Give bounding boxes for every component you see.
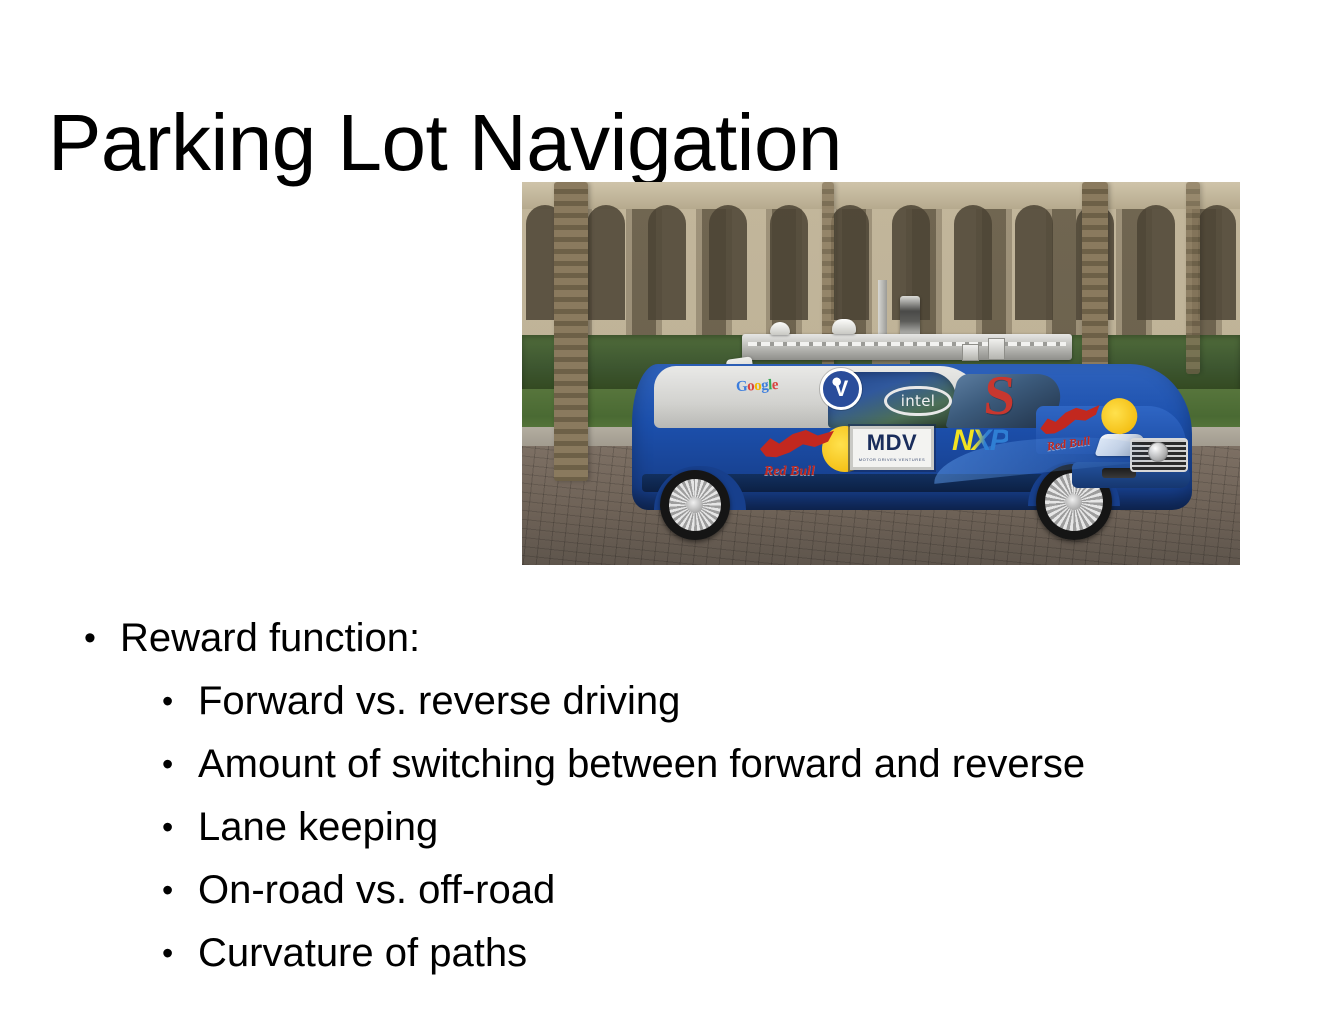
list-item: On-road vs. off-road [162, 859, 1262, 922]
vw-roundel-icon: V [820, 368, 862, 410]
list-item: Amount of switching between forward and … [162, 733, 1262, 796]
arch-icon [587, 205, 625, 320]
stanford-s-icon: S [982, 368, 1017, 424]
gps-antenna-icon [832, 319, 856, 334]
arch-icon [1015, 205, 1053, 320]
roof-sensor-rack [742, 334, 1072, 360]
arch-icon [648, 205, 686, 320]
nxp-logo-icon: NXP [952, 426, 1008, 456]
bullet-list: Reward function: Forward vs. reverse dri… [82, 606, 1262, 985]
list-item: Reward function: [82, 606, 1262, 670]
photo-stage: Google V intel S Red Bull Red Bull MDV M… [522, 182, 1240, 565]
mdv-logo-icon: MDV MOTOR DRIVEN VENTURES [850, 426, 934, 470]
autonomous-vehicle: Google V intel S Red Bull Red Bull MDV M… [632, 342, 1192, 542]
list-item: Lane keeping [162, 796, 1262, 859]
list-item: Curvature of paths [162, 922, 1262, 985]
sensor-box [988, 338, 1005, 360]
rear-wheel [660, 470, 730, 540]
arch-icon [831, 205, 869, 320]
list-item: Forward vs. reverse driving [162, 670, 1262, 733]
palm-tree-icon [554, 182, 588, 481]
arch-icon [1137, 205, 1175, 320]
page-title: Parking Lot Navigation [48, 100, 1288, 186]
gps-antenna-icon [770, 322, 790, 335]
red-bull-bull [1038, 403, 1103, 439]
sensor-mast [878, 280, 887, 340]
arch-icon [709, 205, 747, 320]
google-logo-icon: Google [736, 377, 779, 396]
red-bull-sun [1099, 396, 1140, 437]
mdv-subtitle: MOTOR DRIVEN VENTURES [853, 457, 931, 463]
arch-icon [1198, 205, 1236, 320]
mdv-wordmark: MDV [853, 429, 931, 457]
lidar-sensor [900, 296, 920, 338]
slide: Parking Lot Navigation [0, 0, 1340, 1012]
wheel-hub [1066, 494, 1082, 510]
wheel-hub [687, 497, 703, 513]
intel-logo-icon: intel [884, 386, 952, 416]
red-bull-wordmark: Red Bull [764, 464, 815, 480]
vehicle-photo: Google V intel S Red Bull Red Bull MDV M… [522, 182, 1240, 565]
sensor-box [962, 344, 979, 361]
arch-icon [770, 205, 808, 320]
arch-icon [954, 205, 992, 320]
